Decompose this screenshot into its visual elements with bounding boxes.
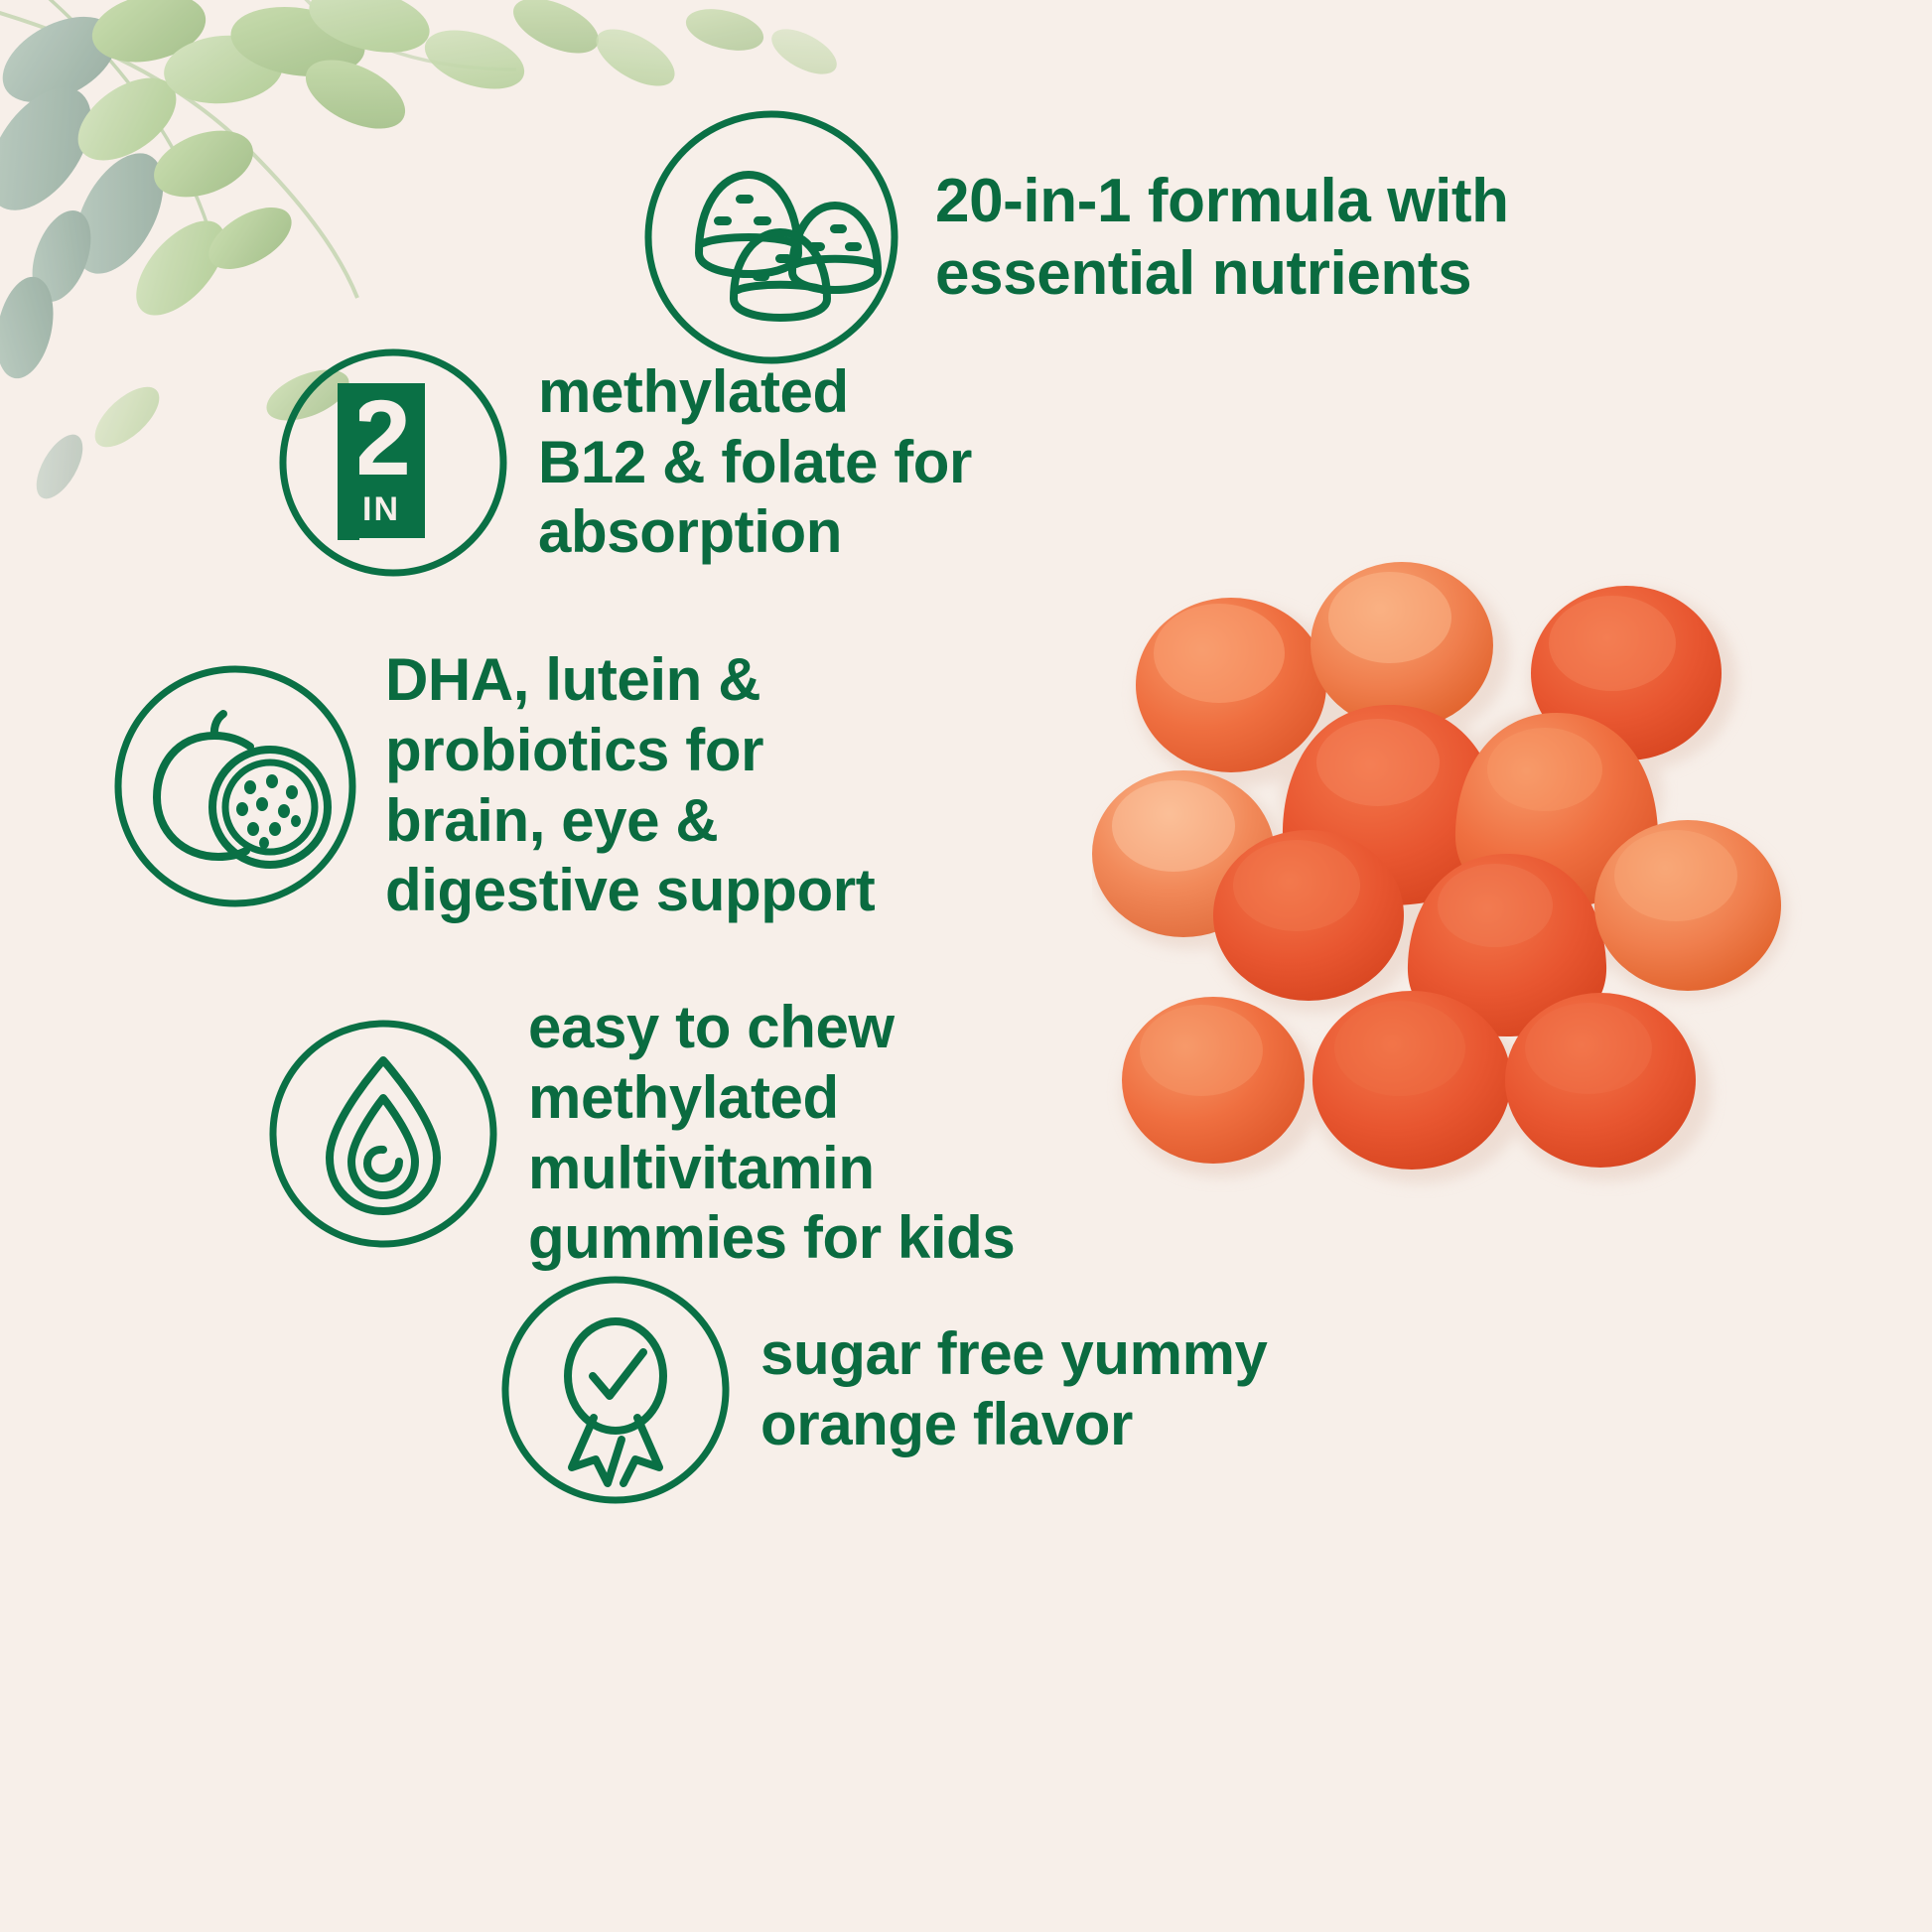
feature-row-methylated: 2 IN methylated B12 & folate for absorpt… (276, 345, 972, 580)
svg-text:IN: IN (362, 490, 400, 528)
droplet-swirl-icon (266, 1017, 500, 1251)
infographic-canvas: 20-in-1 formula with essential nutrients… (0, 0, 1932, 1932)
feature-row-sugar-free: sugar free yummy orange flavor (498, 1273, 1268, 1507)
gummy-domes-icon (641, 107, 901, 367)
passion-fruit-icon (111, 662, 359, 910)
award-check-ribbon-icon (498, 1273, 733, 1507)
feature-row-dha-lutein: DHA, lutein & probiotics for brain, eye … (111, 645, 875, 926)
two-in-one-badge-icon: 2 IN (276, 345, 510, 580)
feature-label-dha-lutein: DHA, lutein & probiotics for brain, eye … (385, 645, 875, 926)
feature-label-easy-chew: easy to chew methylated multivitamin gum… (528, 993, 1015, 1274)
feature-label-sugar-free: sugar free yummy orange flavor (760, 1319, 1268, 1460)
feature-row-easy-chew: easy to chew methylated multivitamin gum… (266, 993, 1015, 1274)
feature-label-methylated: methylated B12 & folate for absorption (538, 357, 972, 568)
orange-gummies-photo (1092, 536, 1847, 1251)
feature-label-formula: 20-in-1 formula with essential nutrients (935, 165, 1509, 310)
feature-row-formula: 20-in-1 formula with essential nutrients (641, 107, 1509, 367)
svg-text:2: 2 (351, 377, 411, 497)
